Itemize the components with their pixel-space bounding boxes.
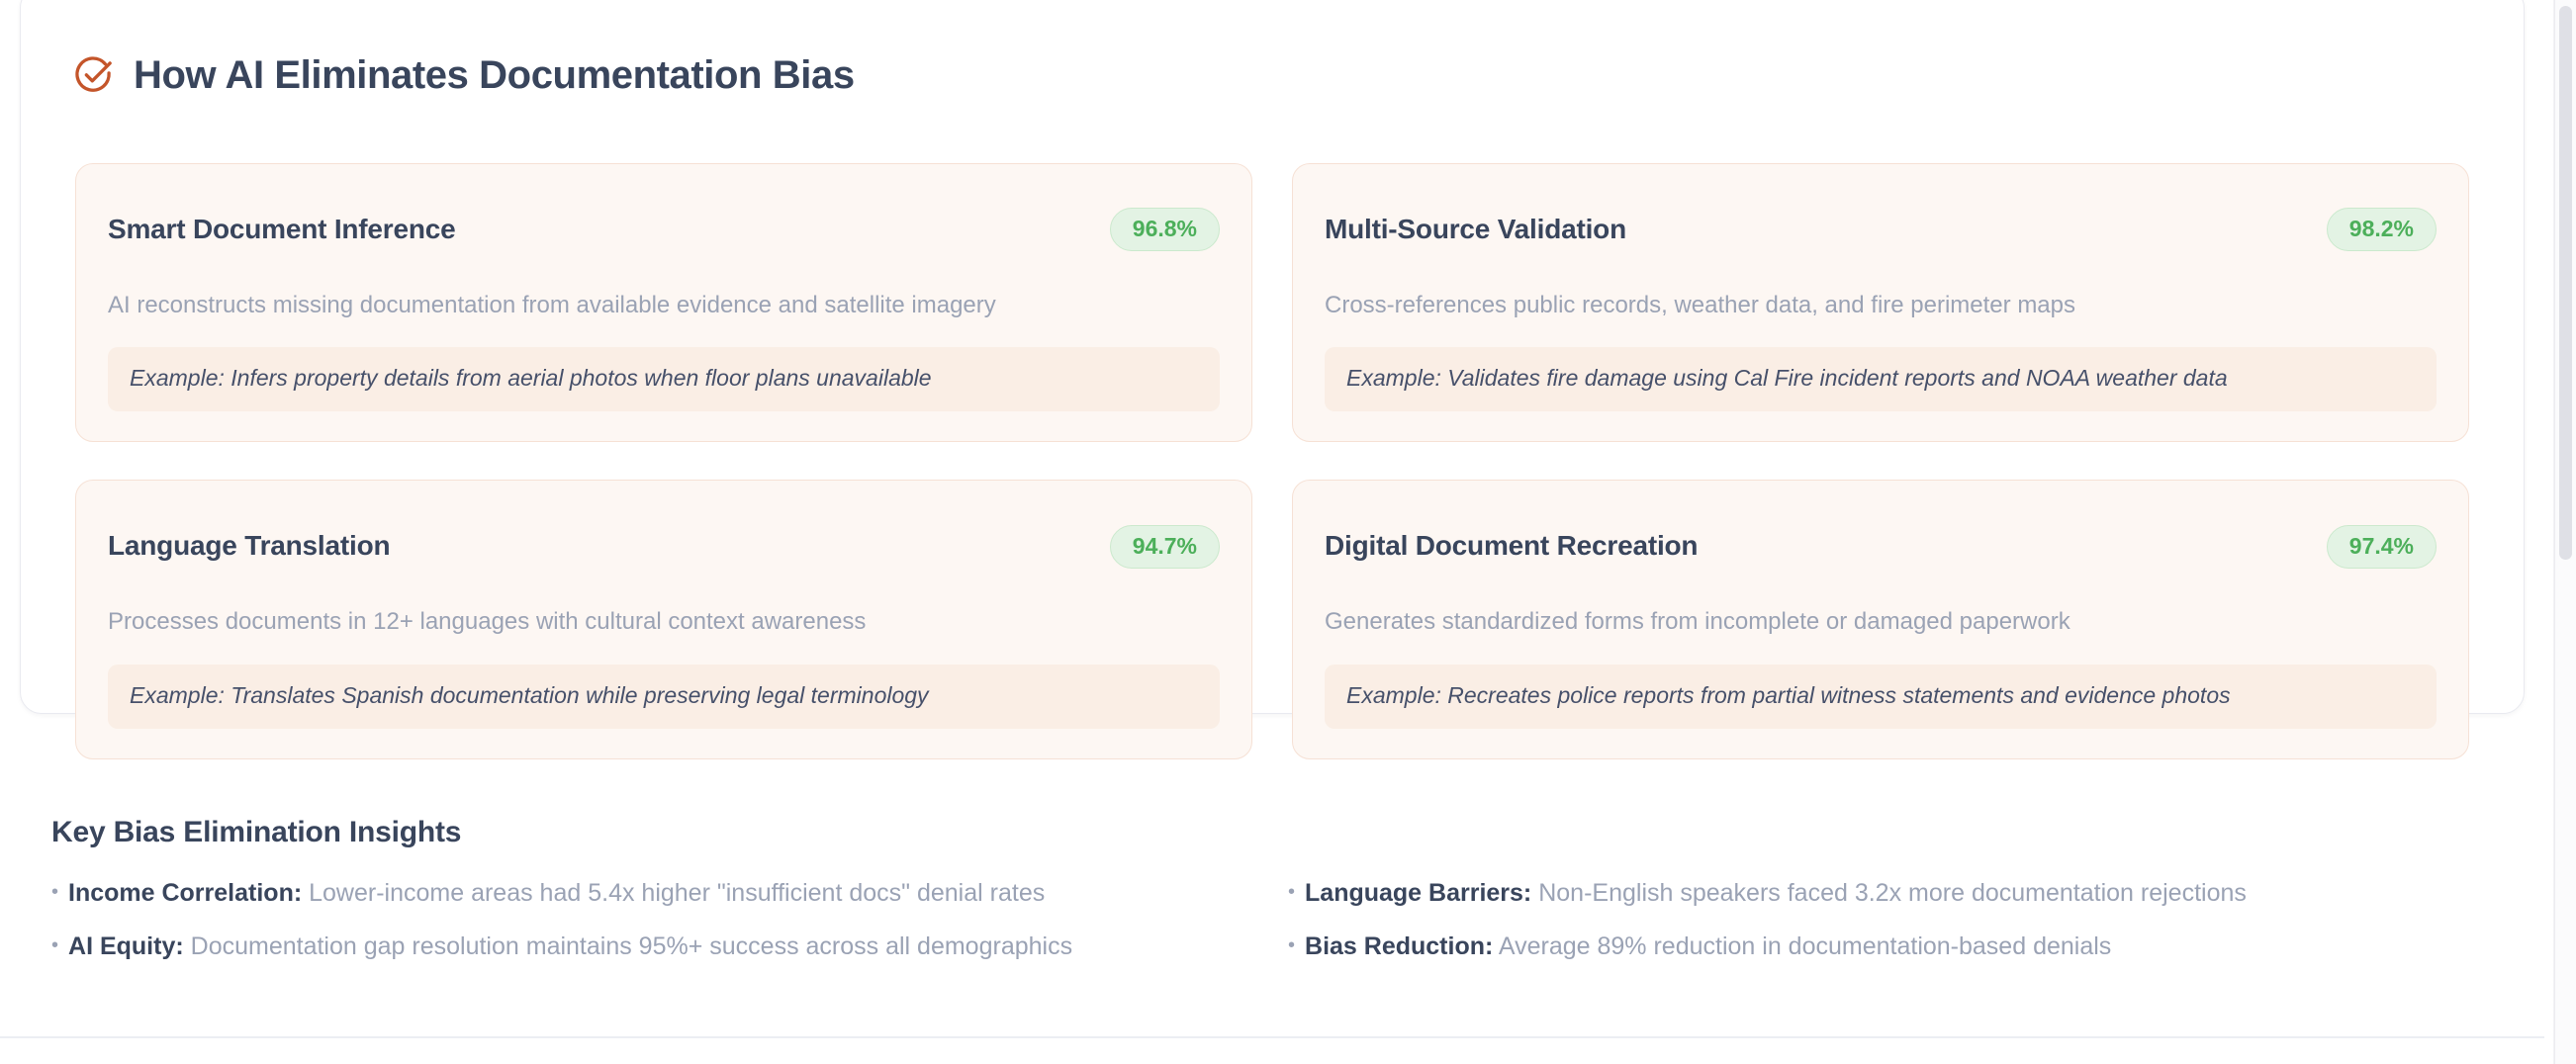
accuracy-badge: 97.4% xyxy=(2327,525,2437,569)
card-header: Digital Document Recreation 97.4% xyxy=(1325,508,2437,584)
insight-item: • AI Equity: Documentation gap resolutio… xyxy=(51,931,1258,963)
insight-item: • Language Barriers: Non-English speaker… xyxy=(1288,877,2495,910)
accuracy-badge: 96.8% xyxy=(1110,208,1220,251)
accuracy-badge: 94.7% xyxy=(1110,525,1220,569)
insight-label: AI Equity: xyxy=(68,932,184,960)
bullet-icon: • xyxy=(1288,882,1295,902)
feature-card[interactable]: Digital Document Recreation 97.4% Genera… xyxy=(1292,480,2469,759)
card-description: Processes documents in 12+ languages wit… xyxy=(108,606,1220,638)
card-header: Multi-Source Validation 98.2% xyxy=(1325,192,2437,268)
feature-card[interactable]: Language Translation 94.7% Processes doc… xyxy=(75,480,1252,759)
card-title: Smart Document Inference xyxy=(108,215,456,245)
insights-title: Key Bias Elimination Insights xyxy=(51,816,2495,849)
card-description: Generates standardized forms from incomp… xyxy=(1325,606,2437,638)
insights-grid: • Income Correlation: Lower-income areas… xyxy=(51,877,2495,963)
bullet-icon: • xyxy=(1288,935,1295,955)
feature-card[interactable]: Smart Document Inference 96.8% AI recons… xyxy=(75,163,1252,443)
bullet-icon: • xyxy=(51,882,58,902)
circle-check-icon xyxy=(72,54,114,96)
bottom-divider xyxy=(0,1036,2544,1038)
insight-item: • Bias Reduction: Average 89% reduction … xyxy=(1288,931,2495,963)
ai-bias-panel: How AI Eliminates Documentation Bias Sma… xyxy=(20,0,2525,714)
feature-card-grid: Smart Document Inference 96.8% AI recons… xyxy=(21,122,2524,759)
key-insights-section: Key Bias Elimination Insights • Income C… xyxy=(51,791,2495,963)
card-title: Language Translation xyxy=(108,531,390,562)
card-example: Example: Translates Spanish documentatio… xyxy=(108,665,1220,729)
insight-text: Average 89% reduction in documentation-b… xyxy=(1499,932,2111,960)
bullet-icon: • xyxy=(51,935,58,955)
insight-text: Lower-income areas had 5.4x higher "insu… xyxy=(309,879,1045,907)
card-example: Example: Recreates police reports from p… xyxy=(1325,665,2437,729)
card-title: Multi-Source Validation xyxy=(1325,215,1626,245)
panel-header: How AI Eliminates Documentation Bias xyxy=(21,0,2524,122)
insight-label: Language Barriers: xyxy=(1305,879,1531,907)
insight-label: Income Correlation: xyxy=(68,879,302,907)
insight-text: Documentation gap resolution maintains 9… xyxy=(191,932,1072,960)
insight-label: Bias Reduction: xyxy=(1305,932,1493,960)
vertical-scrollbar[interactable] xyxy=(2554,0,2576,1064)
card-example: Example: Infers property details from ae… xyxy=(108,347,1220,411)
documentation-bias-page: How AI Eliminates Documentation Bias Sma… xyxy=(0,0,2576,1064)
insight-text: Non-English speakers faced 3.2x more doc… xyxy=(1538,879,2247,907)
card-description: AI reconstructs missing documentation fr… xyxy=(108,290,1220,321)
card-header: Language Translation 94.7% xyxy=(108,508,1220,584)
card-header: Smart Document Inference 96.8% xyxy=(108,192,1220,268)
page-title: How AI Eliminates Documentation Bias xyxy=(134,55,855,95)
feature-card[interactable]: Multi-Source Validation 98.2% Cross-refe… xyxy=(1292,163,2469,443)
scrollbar-thumb[interactable] xyxy=(2559,6,2572,560)
card-example: Example: Validates fire damage using Cal… xyxy=(1325,347,2437,411)
accuracy-badge: 98.2% xyxy=(2327,208,2437,251)
insight-item: • Income Correlation: Lower-income areas… xyxy=(51,877,1258,910)
card-title: Digital Document Recreation xyxy=(1325,531,1698,562)
card-description: Cross-references public records, weather… xyxy=(1325,290,2437,321)
